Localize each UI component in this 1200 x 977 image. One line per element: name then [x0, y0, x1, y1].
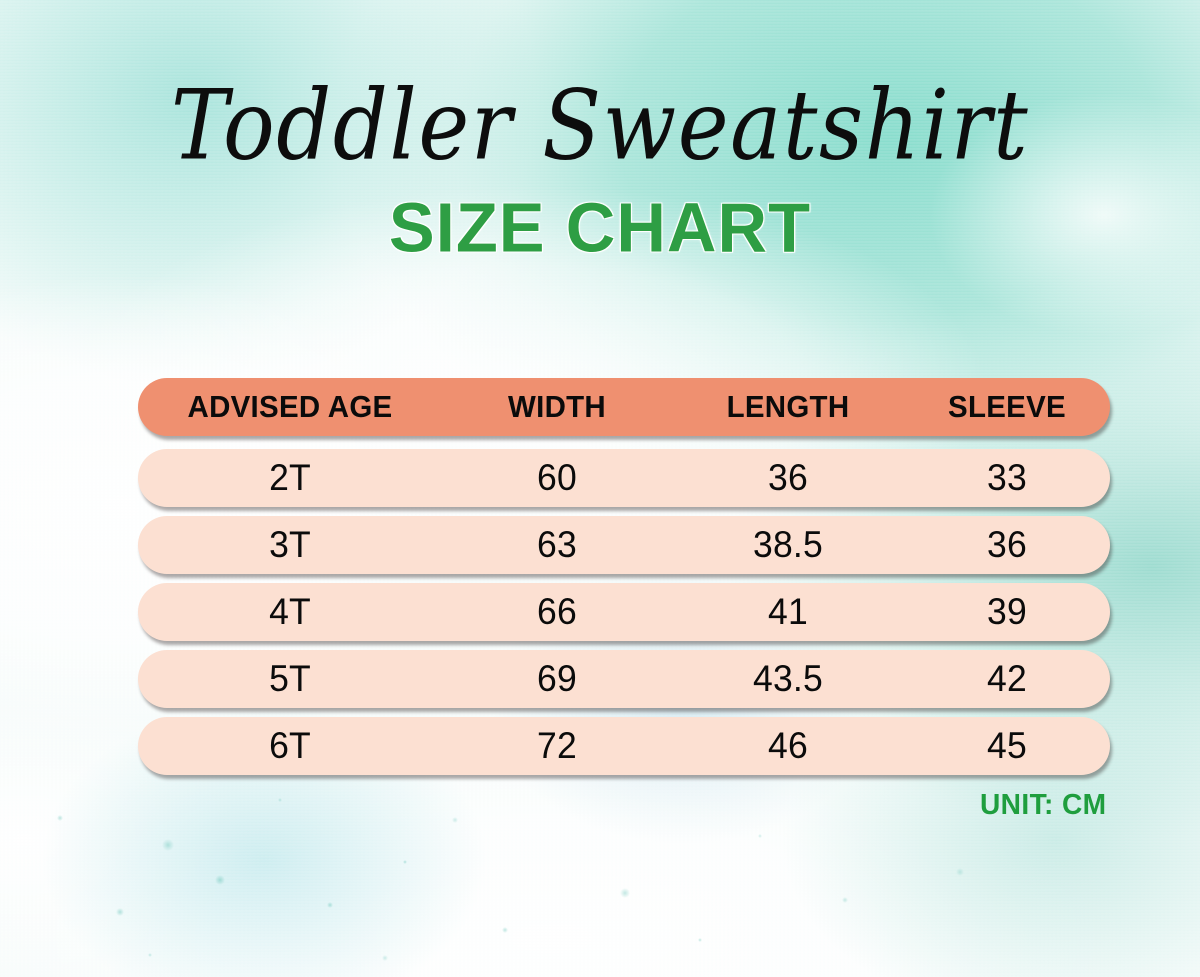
table-row: 3T 63 38.5 36	[138, 516, 1110, 574]
cell-sleeve: 39	[908, 591, 1106, 633]
table-header-row: ADVISED AGE WIDTH LENGTH SLEEVE	[138, 378, 1110, 436]
cell-length: 36	[677, 457, 900, 499]
column-header-length: LENGTH	[678, 389, 898, 425]
column-header-width: WIDTH	[448, 389, 667, 425]
table-row: 6T 72 46 45	[138, 717, 1110, 775]
cell-age: 6T	[144, 725, 436, 767]
cell-age: 2T	[144, 457, 436, 499]
table-row: 4T 66 41 39	[138, 583, 1110, 641]
cell-sleeve: 33	[908, 457, 1106, 499]
cell-width: 72	[447, 725, 668, 767]
page-title: Toddler Sweatshirt	[0, 78, 1200, 176]
size-chart-canvas: Toddler Sweatshirt SIZE CHART ADVISED AG…	[0, 0, 1200, 977]
table-row: 5T 69 43.5 42	[138, 650, 1110, 708]
cell-width: 69	[447, 658, 668, 700]
column-header-sleeve: SLEEVE	[909, 389, 1105, 425]
cell-width: 60	[447, 457, 668, 499]
unit-label: UNIT: CM	[979, 789, 1106, 822]
table-row: 2T 60 36 33	[138, 449, 1110, 507]
cell-sleeve: 42	[908, 658, 1106, 700]
cell-length: 43.5	[677, 658, 900, 700]
cell-age: 5T	[144, 658, 436, 700]
cell-age: 3T	[144, 524, 436, 566]
cell-length: 46	[677, 725, 900, 767]
cell-age: 4T	[144, 591, 436, 633]
cell-width: 63	[447, 524, 668, 566]
title-block: Toddler Sweatshirt SIZE CHART	[0, 78, 1200, 258]
size-table: ADVISED AGE WIDTH LENGTH SLEEVE 2T 60 36…	[138, 378, 1110, 784]
cell-length: 41	[677, 591, 900, 633]
cell-sleeve: 45	[908, 725, 1106, 767]
column-header-advised-age: ADVISED AGE	[146, 389, 435, 425]
page-subtitle: SIZE CHART	[0, 192, 1200, 262]
cell-length: 38.5	[677, 524, 900, 566]
cell-width: 66	[447, 591, 668, 633]
cell-sleeve: 36	[908, 524, 1106, 566]
